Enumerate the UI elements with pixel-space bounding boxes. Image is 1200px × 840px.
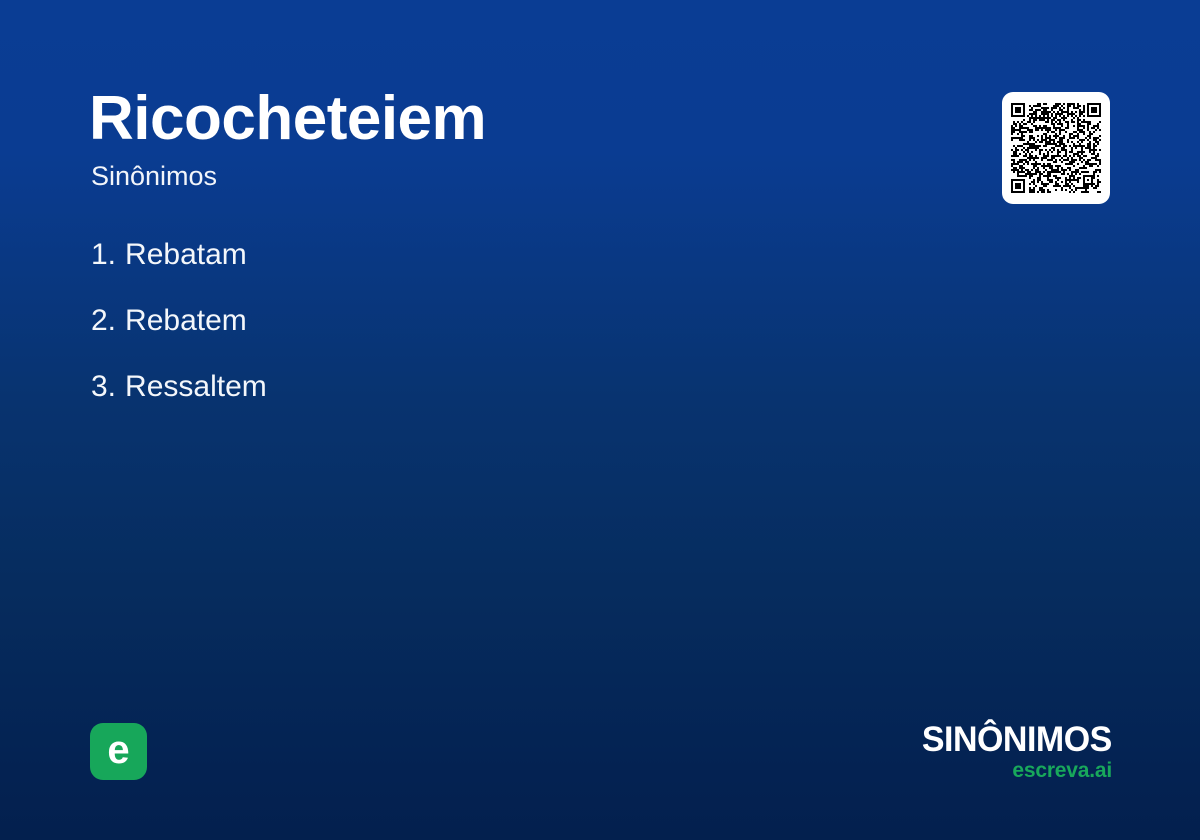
qr-code-container[interactable] — [1002, 92, 1110, 204]
list-item-label: Rebatem — [125, 304, 247, 338]
list-item: 1. Rebatam — [91, 238, 267, 304]
synonyms-list: 1. Rebatam 2. Rebatem 3. Ressaltem — [91, 238, 267, 436]
list-item-label: Rebatam — [125, 238, 247, 272]
list-item-index: 1. — [91, 238, 116, 272]
logo-tagline: escreva.ai — [916, 760, 1112, 781]
synonym-card: Ricocheteiem Sinônimos 1. Rebatam 2. Reb… — [0, 0, 1200, 840]
list-item-index: 3. — [91, 370, 116, 404]
list-item: 3. Ressaltem — [91, 370, 267, 436]
logo-wordmark: SINÔNIMOS — [922, 722, 1112, 757]
brand-badge-letter: e — [107, 730, 129, 770]
sinonimos-logo[interactable]: SINÔNIMOS escreva.ai — [916, 722, 1112, 781]
page-subtitle: Sinônimos — [91, 160, 949, 192]
list-item: 2. Rebatem — [91, 304, 267, 370]
list-item-label: Ressaltem — [125, 370, 267, 404]
list-item-index: 2. — [91, 304, 116, 338]
escreva-e-badge-icon[interactable]: e — [90, 723, 147, 780]
card-header: Ricocheteiem Sinônimos — [89, 86, 949, 192]
page-title: Ricocheteiem — [89, 86, 949, 152]
qr-code-icon — [1011, 101, 1101, 195]
